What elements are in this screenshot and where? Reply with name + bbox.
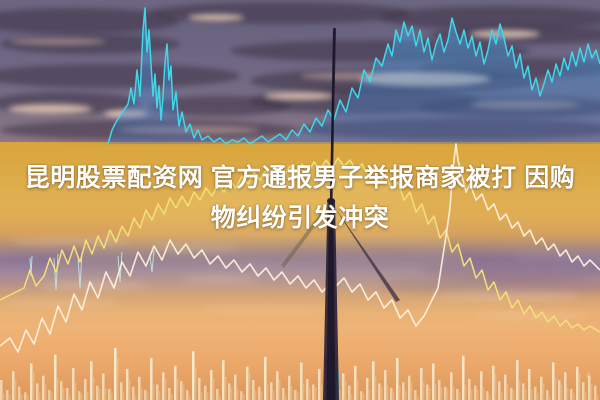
headline-line-1: 昆明股票配资网 官方通报男子举报商家被打 因购 (25, 164, 575, 192)
watermark: ◊ (587, 371, 591, 380)
page-title: 昆明股票配资网 官方通报男子举报商家被打 因购物纠纷引发冲突 (0, 158, 600, 238)
news-thumbnail: 昆明股票配资网 官方通报男子举报商家被打 因购物纠纷引发冲突 ◊ (0, 0, 600, 400)
headline-line-2: 物纠纷引发冲突 (211, 204, 390, 232)
